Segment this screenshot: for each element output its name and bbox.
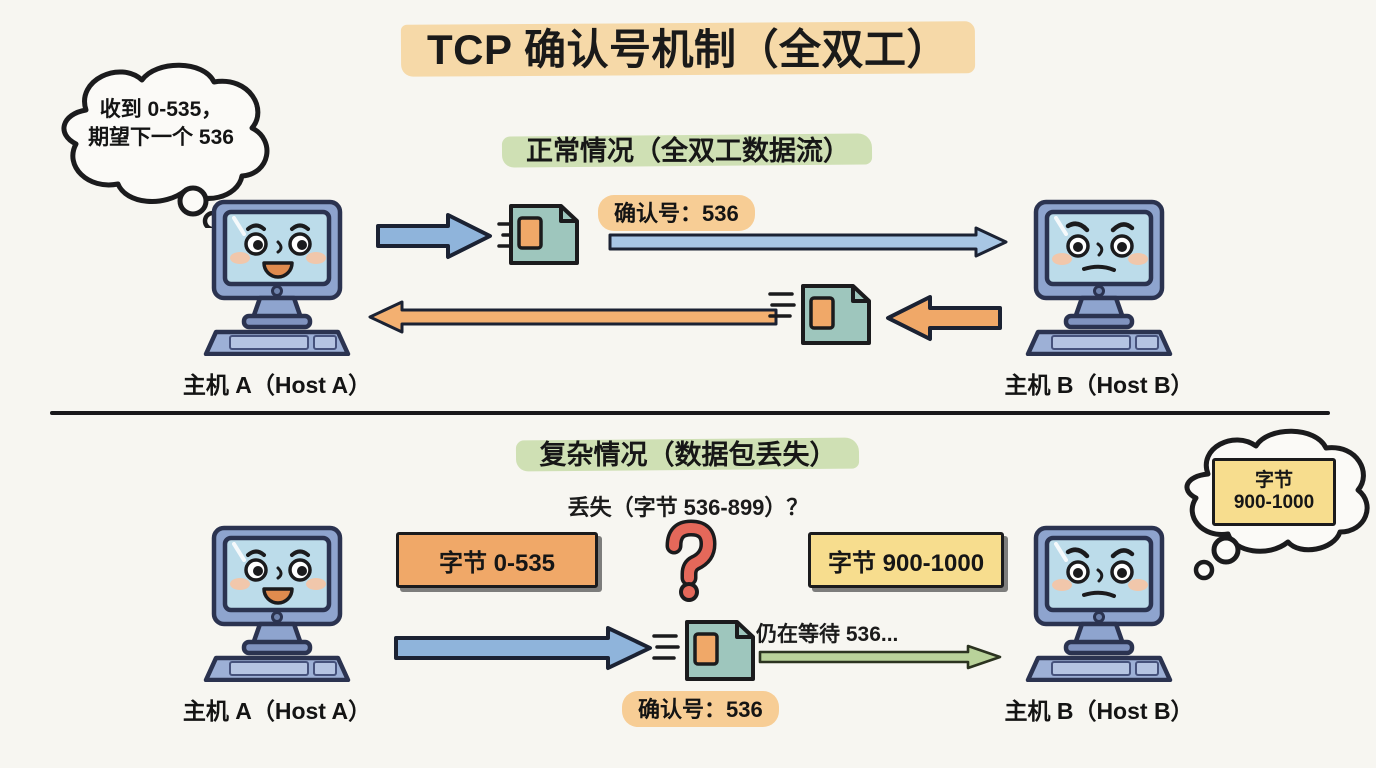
title-text: TCP 确认号机制（全双工） bbox=[427, 16, 949, 77]
section-loss-header-highlight: 复杂情况（数据包丢失） bbox=[522, 432, 855, 476]
host-a-thought-line1: 收到 0-535， bbox=[46, 96, 276, 124]
waiting-arrow-bottom bbox=[758, 644, 1002, 670]
host-a-thought-text: 收到 0-535， 期望下一个 536 bbox=[46, 96, 276, 153]
host-a-thought-line2: 期望下一个 536 bbox=[46, 124, 276, 152]
ack-label-bottom-pill: 确认号：536 bbox=[622, 688, 779, 730]
waiting-note-text: 仍在等待 536... bbox=[756, 623, 898, 646]
box-bytes-received: 字节 900-1000 bbox=[808, 532, 1004, 588]
speed-lines-icon-bottom bbox=[652, 630, 682, 666]
section-normal-header-highlight: 正常情况（全双工数据流） bbox=[508, 128, 868, 172]
host-b-label-top: 主机 B（Host B） bbox=[964, 366, 1234, 400]
section-normal-header-text: 正常情况（全双工数据流） bbox=[526, 136, 850, 166]
forward-arrow-short-top bbox=[374, 212, 494, 260]
host-b-thought-line2: 900-1000 bbox=[1234, 492, 1314, 514]
host-a-computer-bottom[interactable] bbox=[192, 522, 362, 682]
question-mark-icon bbox=[650, 516, 730, 606]
ack-label-bottom: 确认号：536 bbox=[622, 688, 779, 730]
host-b-thought-box: 字节 900-1000 bbox=[1212, 458, 1336, 526]
send-arrow-bottom bbox=[392, 625, 654, 671]
long-arrow-a-to-b-top bbox=[608, 226, 1008, 258]
speed-lines-icon-top-return bbox=[768, 288, 798, 324]
section-loss-header-text: 复杂情况（数据包丢失） bbox=[540, 440, 837, 470]
return-arrow-short-top bbox=[884, 294, 1004, 342]
host-b-label-bottom: 主机 B（Host B） bbox=[964, 692, 1234, 726]
packet-envelope-icon-top-forward bbox=[506, 200, 584, 270]
diagram-canvas: TCP 确认号机制（全双工） 正常情况（全双工数据流） 收到 0-535， 期望… bbox=[0, 0, 1376, 768]
host-b-thought-bubble: 字节 900-1000 bbox=[1168, 418, 1376, 588]
ack-label-bottom-text: 确认号：536 bbox=[638, 697, 763, 722]
host-b-computer-top[interactable] bbox=[1014, 196, 1184, 356]
long-arrow-b-to-a-top bbox=[368, 300, 778, 334]
host-b-thought-line1: 字节 bbox=[1255, 470, 1293, 492]
host-a-computer-top[interactable] bbox=[192, 196, 362, 356]
section-divider bbox=[50, 411, 1330, 415]
title-highlight: TCP 确认号机制（全双工） bbox=[401, 14, 975, 83]
host-b-computer-bottom[interactable] bbox=[1014, 522, 1184, 682]
box-bytes-sent: 字节 0-535 bbox=[396, 532, 598, 588]
host-a-label-bottom: 主机 A（Host A） bbox=[142, 692, 412, 726]
packet-envelope-icon-bottom bbox=[682, 616, 760, 686]
host-a-label-top: 主机 A（Host A） bbox=[142, 366, 412, 400]
ack-label-top-text: 确认号：536 bbox=[614, 201, 739, 226]
packet-envelope-icon-top-return bbox=[798, 280, 876, 350]
